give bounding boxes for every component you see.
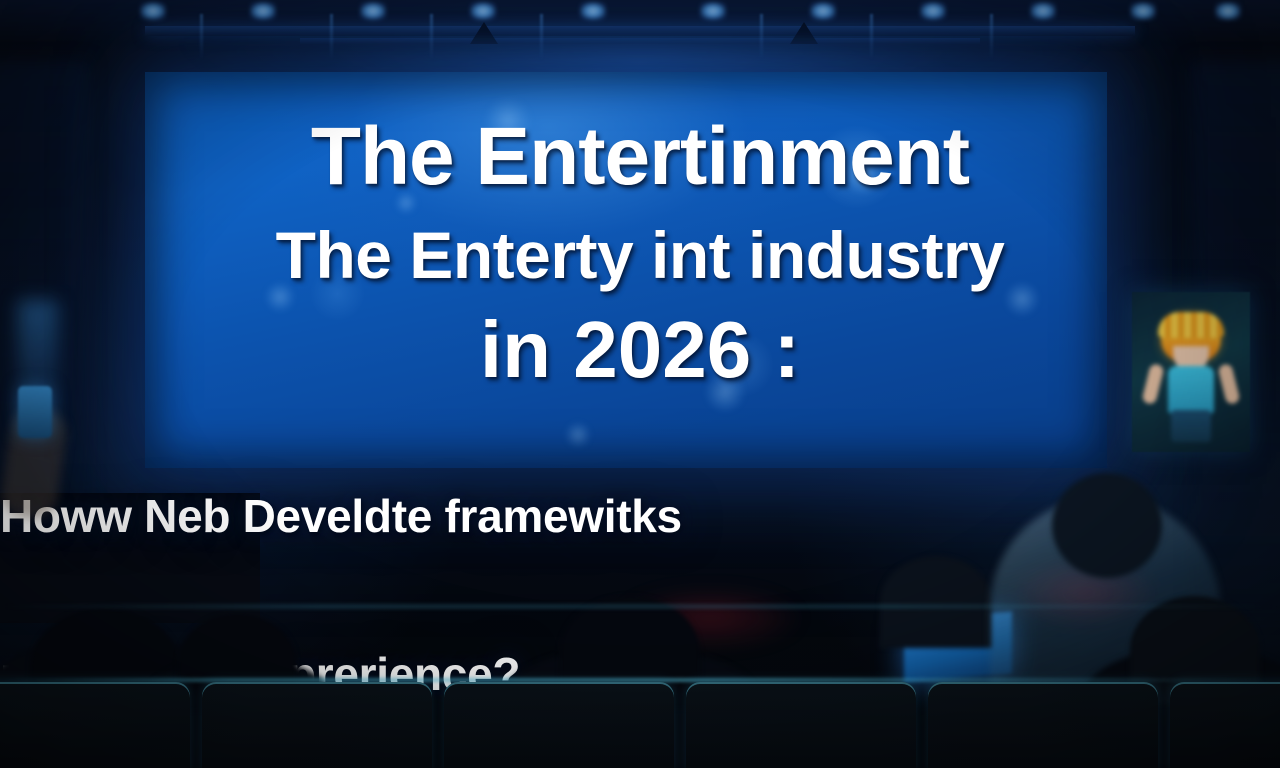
theater-seat	[202, 682, 432, 768]
headline-block: The Entertinment The Enterty int industr…	[0, 72, 1280, 390]
audience-foreground	[0, 448, 1280, 768]
stage-lamp-icon	[580, 2, 606, 20]
headline-line-3: in 2026 :	[0, 310, 1280, 390]
truss-bar	[145, 26, 1135, 36]
stage-lamp-icon	[920, 2, 946, 20]
theater-seat	[928, 682, 1158, 768]
stage-lamp-icon	[360, 2, 386, 20]
stage-lamp-icon	[470, 2, 496, 20]
screen-bokeh	[565, 422, 591, 448]
stage-lamp-icon	[250, 2, 276, 20]
headline-line-2: The Enterty int industry	[0, 222, 1280, 288]
banner-image: The Entertinment The Enterty int industr…	[0, 0, 1280, 768]
stage-lamp-icon	[1130, 2, 1156, 20]
theater-seat	[444, 682, 674, 768]
audience-head	[880, 556, 992, 648]
stage-lamp-icon	[810, 2, 836, 20]
theater-seat	[1170, 682, 1280, 768]
headline-line-1: The Entertinment	[0, 116, 1280, 198]
phone-screen-glow	[18, 386, 52, 438]
stage-lamp-icon	[1215, 2, 1241, 20]
audience-head	[1052, 473, 1162, 578]
theater-seat	[0, 682, 190, 768]
seat-row-rail	[0, 605, 1280, 608]
seat-row	[0, 684, 1280, 768]
stage-lamp-icon	[700, 2, 726, 20]
stage-lamp-icon	[1030, 2, 1056, 20]
stage-lamp-icon	[140, 2, 166, 20]
theater-seat	[686, 682, 916, 768]
